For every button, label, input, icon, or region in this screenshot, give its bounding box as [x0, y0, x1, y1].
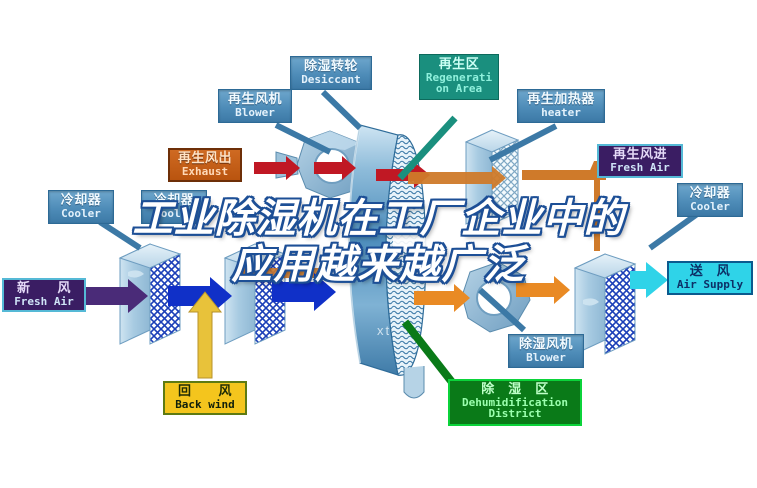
- label-regen-blower: 再生风机 Blower: [218, 89, 292, 123]
- label-cooler-right: 冷却器 Cooler: [677, 183, 743, 217]
- label-desiccant-wheel: 除湿转轮 Desiccant: [290, 56, 372, 90]
- arrow-fresh-air-purple: [86, 279, 148, 313]
- label-fresh-air-inlet: 新 风 Fresh Air: [2, 278, 86, 312]
- label-dehumidification-district: 除 湿 区 Dehumidification District: [448, 379, 582, 426]
- label-cooler-left: 冷却器 Cooler: [48, 190, 114, 224]
- label-dehum-blower: 除湿风机 Blower: [508, 334, 584, 368]
- arrow-air-supply-cyan: [630, 262, 668, 298]
- arrow-regen-orange: [408, 161, 607, 251]
- diagram-canvas: xt 除湿转轮 Desiccant 再生风机 Blower 再生风出 Exhau…: [0, 0, 757, 488]
- label-regeneration-area: 再生区 Regenerati on Area: [419, 54, 499, 100]
- label-regen-heater: 再生加热器 heater: [517, 89, 605, 123]
- label-regen-fresh-air: 再生风进 Fresh Air: [597, 144, 683, 178]
- label-regen-exhaust: 再生风出 Exhaust: [168, 148, 242, 182]
- leader-lines: [100, 92, 700, 386]
- arrow-layer: [0, 0, 757, 488]
- label-cooler-mid: 冷却器 Cooler: [141, 190, 207, 224]
- label-air-supply: 送 风 Air Supply: [667, 261, 753, 295]
- label-back-wind: 回 风 Back wind: [163, 381, 247, 415]
